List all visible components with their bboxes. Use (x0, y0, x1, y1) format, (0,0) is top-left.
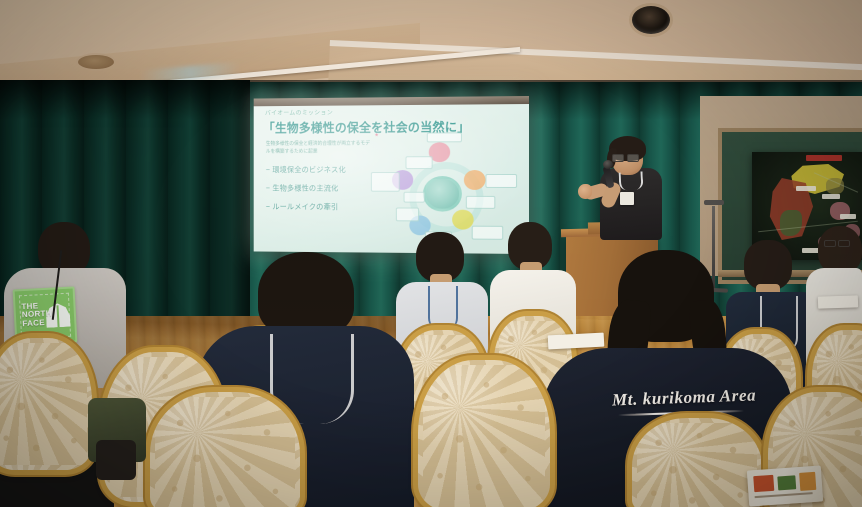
diagram-top-label (427, 132, 462, 142)
presenter-left-hand (578, 184, 592, 199)
map-callout-label (796, 186, 816, 191)
microphone-icon (603, 160, 613, 169)
chair-backrest (0, 338, 92, 470)
north-face-logo: THE NORTH FACE (13, 286, 78, 345)
chair-fabric-pattern (155, 397, 295, 507)
brochure-photo (799, 472, 816, 491)
attendee-head (818, 226, 862, 274)
projection-screen: バイオームのミッション 「生物多様性の保全を社会の当然に」 生物多様性の保全と経… (254, 96, 529, 254)
banquet-chair (150, 392, 300, 507)
chair-backrest (632, 418, 762, 507)
seminar-room-photo: バイオームのミッション 「生物多様性の保全を社会の当然に」 生物多様性の保全と経… (0, 0, 862, 507)
handout-papers (818, 295, 858, 308)
diagram-callout (485, 174, 517, 188)
equipment-stand-head (704, 200, 724, 205)
chair-backrest (418, 360, 550, 507)
banquet-chair (632, 418, 762, 507)
diagram-node-right (464, 170, 486, 190)
handout-papers (548, 333, 605, 350)
diagram-callout (404, 192, 425, 203)
attendee-head (744, 240, 792, 290)
glasses-icon (612, 154, 638, 160)
map-region-green (780, 210, 802, 236)
chair-fabric-pattern (423, 365, 545, 507)
lanyard (619, 171, 644, 190)
chair-backrest (150, 392, 300, 507)
presentation-slide: バイオームのミッション 「生物多様性の保全を社会の当然に」 生物多様性の保全と経… (261, 104, 523, 250)
equipment-stand-pole (712, 206, 715, 292)
recessed-ceiling-light-icon (78, 55, 114, 69)
diagram-center-node (423, 176, 462, 212)
north-face-logo-text: THE NORTH FACE (21, 301, 68, 329)
colour-brochure (747, 465, 823, 506)
chair-fabric-pattern (637, 423, 757, 507)
lanyard (428, 286, 458, 330)
slide-eyebrow: バイオームのミッション (265, 106, 523, 117)
star-icon (375, 133, 379, 137)
brochure-photo (753, 475, 774, 492)
banquet-chair (418, 360, 550, 507)
glasses-icon (824, 240, 848, 245)
chair-fabric-pattern (0, 343, 87, 465)
diagram-node-bottom-right (452, 210, 474, 230)
bag-lower (96, 440, 136, 480)
map-callout-label (840, 214, 856, 219)
diagram-callout (466, 196, 495, 209)
map-callout-label (822, 194, 840, 199)
slide-cycle-diagram (371, 130, 519, 248)
diagram-callout (405, 156, 432, 169)
recessed-ceiling-light-icon (632, 6, 670, 34)
brochure-text-line (755, 492, 813, 498)
diagram-callout (371, 172, 400, 192)
map-title-band (806, 155, 842, 161)
attendee-head (258, 252, 354, 336)
slide-subtitle: 生物多様性の保全と経済的合理性が両立するモデルを構築するために起業 (266, 141, 372, 156)
banquet-chair (0, 338, 92, 470)
diagram-callout (396, 207, 419, 221)
logo-line-3: FACE (22, 318, 45, 328)
name-badge (620, 192, 634, 205)
map-region-olive (826, 178, 844, 194)
brochure-photo (777, 475, 796, 490)
diagram-callout (472, 226, 504, 240)
